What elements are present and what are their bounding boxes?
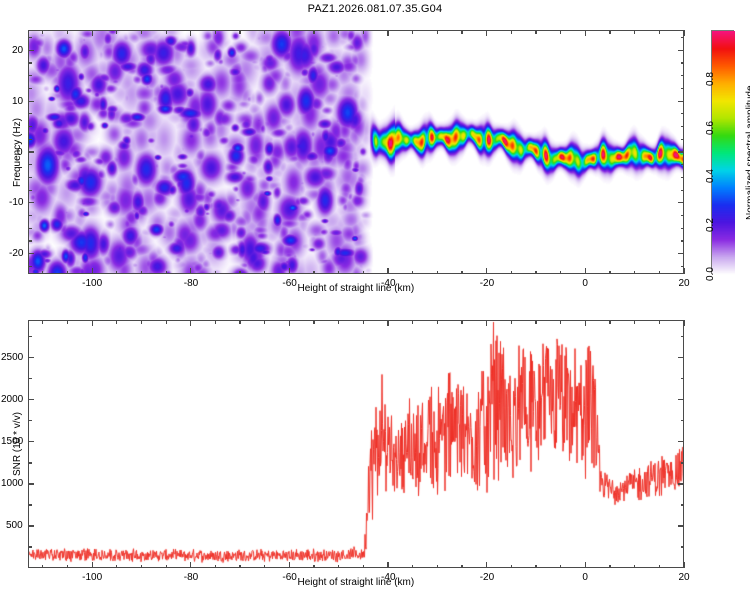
y-tick-minor xyxy=(28,139,32,140)
y-tick-major xyxy=(28,357,34,358)
x-tick-minor-top xyxy=(535,30,536,34)
x-tick-major xyxy=(289,268,290,274)
y-tick-minor xyxy=(28,546,32,547)
x-tick-minor xyxy=(560,271,561,275)
y-tick-minor-right xyxy=(681,190,685,191)
y-tick-minor xyxy=(28,37,32,38)
x-tick-minor-top xyxy=(215,30,216,34)
y-tick-label: 500 xyxy=(6,520,23,531)
y-tick-minor xyxy=(28,504,32,505)
x-tick-minor xyxy=(338,271,339,275)
x-tick-major xyxy=(486,268,487,274)
x-tick-major xyxy=(92,268,93,274)
y-tick-major xyxy=(28,202,34,203)
y-tick-minor xyxy=(28,215,32,216)
x-tick-minor-top xyxy=(511,320,512,324)
y-tick-major xyxy=(28,151,34,152)
x-tick-minor xyxy=(363,271,364,275)
x-tick-label: 20 xyxy=(679,278,690,289)
y-tick-major-right xyxy=(678,357,684,358)
x-tick-minor xyxy=(535,565,536,569)
x-tick-minor xyxy=(511,565,512,569)
y-tick-minor-right xyxy=(681,139,685,140)
y-tick-minor xyxy=(28,88,32,89)
y-tick-major xyxy=(28,525,34,526)
colorbar-tick-label: 0.4 xyxy=(705,169,716,183)
x-tick-minor-top xyxy=(313,30,314,34)
figure-title: PAZ1.2026.081.07.35.G04 xyxy=(0,3,750,15)
x-tick-minor-top xyxy=(42,320,43,324)
y-tick-label: -10 xyxy=(9,197,23,208)
x-tick-label: -100 xyxy=(82,278,102,289)
y-tick-major-right xyxy=(678,253,684,254)
y-tick-label: 20 xyxy=(12,45,23,56)
x-tick-label: 20 xyxy=(679,572,690,583)
y-tick-major-right xyxy=(678,525,684,526)
x-tick-minor-top xyxy=(116,320,117,324)
y-tick-minor-right xyxy=(681,62,685,63)
x-tick-minor xyxy=(511,271,512,275)
x-tick-minor-top xyxy=(67,30,68,34)
x-tick-minor-top xyxy=(412,320,413,324)
x-tick-label: -100 xyxy=(82,572,102,583)
x-tick-major xyxy=(387,268,388,274)
x-tick-minor-top xyxy=(634,30,635,34)
snr-y-axis-label: SNR (10 * v/v) xyxy=(12,412,23,476)
x-tick-label: -60 xyxy=(282,572,296,583)
x-tick-major-top xyxy=(585,320,586,326)
x-tick-minor-top xyxy=(166,320,167,324)
y-tick-minor-right xyxy=(681,164,685,165)
x-tick-minor xyxy=(239,565,240,569)
y-tick-minor-right xyxy=(681,504,685,505)
y-tick-major xyxy=(28,253,34,254)
x-tick-minor xyxy=(239,271,240,275)
x-tick-minor-top xyxy=(461,320,462,324)
y-tick-minor xyxy=(28,62,32,63)
x-tick-minor-top xyxy=(437,30,438,34)
x-tick-minor-top xyxy=(264,320,265,324)
x-tick-minor-top xyxy=(609,320,610,324)
y-tick-major xyxy=(28,50,34,51)
snr-panel xyxy=(28,320,684,568)
x-tick-label: -20 xyxy=(480,278,494,289)
y-tick-minor xyxy=(28,462,32,463)
x-tick-minor-top xyxy=(215,320,216,324)
x-tick-minor xyxy=(437,565,438,569)
x-tick-minor xyxy=(313,565,314,569)
x-tick-minor-top xyxy=(338,320,339,324)
y-tick-major-right xyxy=(678,101,684,102)
x-tick-major-top xyxy=(486,30,487,36)
y-tick-major-right xyxy=(678,483,684,484)
x-tick-label: -20 xyxy=(480,572,494,583)
x-tick-major xyxy=(190,268,191,274)
x-tick-minor xyxy=(141,565,142,569)
y-tick-minor-right xyxy=(681,378,685,379)
x-tick-minor xyxy=(609,271,610,275)
y-tick-minor-right xyxy=(681,88,685,89)
x-tick-major xyxy=(486,562,487,568)
y-tick-minor-right xyxy=(681,228,685,229)
x-tick-major-top xyxy=(190,30,191,36)
x-tick-minor xyxy=(313,271,314,275)
spectrogram-y-axis-label: Frequency (Hz) xyxy=(12,118,23,187)
colorbar-tick-label: 0.8 xyxy=(705,72,716,86)
y-tick-minor xyxy=(28,113,32,114)
x-tick-minor-top xyxy=(264,30,265,34)
y-tick-minor xyxy=(28,240,32,241)
x-tick-major-top xyxy=(92,30,93,36)
x-tick-minor-top xyxy=(461,30,462,34)
colorbar-label: Normalized spectral amplitude xyxy=(745,85,750,220)
y-tick-minor-right xyxy=(681,113,685,114)
x-tick-minor-top xyxy=(116,30,117,34)
x-tick-minor xyxy=(338,565,339,569)
x-tick-major-top xyxy=(387,30,388,36)
y-tick-minor-right xyxy=(681,420,685,421)
x-tick-minor-top xyxy=(609,30,610,34)
x-tick-major-top xyxy=(190,320,191,326)
x-tick-minor-top xyxy=(634,320,635,324)
x-tick-minor-top xyxy=(141,30,142,34)
x-tick-minor xyxy=(412,565,413,569)
y-tick-label: 2000 xyxy=(1,394,23,405)
x-tick-minor xyxy=(634,271,635,275)
x-tick-minor-top xyxy=(535,320,536,324)
x-tick-minor xyxy=(461,565,462,569)
x-tick-minor-top xyxy=(239,30,240,34)
y-tick-label: 2500 xyxy=(1,352,23,363)
x-tick-major-top xyxy=(289,320,290,326)
x-tick-minor xyxy=(67,271,68,275)
colorbar-tick-label: 0.0 xyxy=(705,267,716,281)
y-tick-minor-right xyxy=(681,126,685,127)
y-tick-minor xyxy=(28,75,32,76)
x-tick-minor-top xyxy=(313,320,314,324)
x-tick-minor-top xyxy=(511,30,512,34)
x-tick-minor xyxy=(215,565,216,569)
y-tick-minor xyxy=(28,177,32,178)
colorbar-gradient xyxy=(712,31,735,275)
y-tick-minor-right xyxy=(681,215,685,216)
x-tick-minor xyxy=(437,271,438,275)
y-tick-minor xyxy=(28,228,32,229)
x-tick-minor-top xyxy=(141,320,142,324)
x-tick-minor xyxy=(166,565,167,569)
x-tick-label: -80 xyxy=(184,572,198,583)
y-tick-minor-right xyxy=(681,266,685,267)
y-tick-major-right xyxy=(678,399,684,400)
x-tick-label: -60 xyxy=(282,278,296,289)
x-tick-label: 0 xyxy=(582,278,588,289)
x-tick-minor-top xyxy=(560,30,561,34)
x-tick-minor xyxy=(461,271,462,275)
x-tick-minor xyxy=(264,565,265,569)
x-tick-major xyxy=(92,562,93,568)
x-tick-minor xyxy=(67,565,68,569)
x-tick-minor xyxy=(634,565,635,569)
x-tick-minor-top xyxy=(239,320,240,324)
x-tick-minor xyxy=(560,565,561,569)
x-tick-minor-top xyxy=(659,320,660,324)
y-tick-minor xyxy=(28,190,32,191)
x-tick-minor-top xyxy=(437,320,438,324)
y-tick-minor xyxy=(28,336,32,337)
x-tick-minor xyxy=(215,271,216,275)
x-tick-minor-top xyxy=(363,320,364,324)
y-tick-minor xyxy=(28,266,32,267)
x-tick-minor xyxy=(412,271,413,275)
x-tick-major-top xyxy=(92,320,93,326)
x-tick-major xyxy=(683,562,684,568)
y-tick-label: 1000 xyxy=(1,478,23,489)
y-tick-major xyxy=(28,441,34,442)
y-tick-major-right xyxy=(678,441,684,442)
x-tick-minor xyxy=(116,565,117,569)
x-tick-minor xyxy=(535,271,536,275)
x-tick-minor xyxy=(42,271,43,275)
x-tick-minor-top xyxy=(412,30,413,34)
y-tick-major xyxy=(28,399,34,400)
x-tick-minor xyxy=(264,271,265,275)
y-tick-label: 10 xyxy=(12,96,23,107)
y-tick-minor xyxy=(28,164,32,165)
y-tick-major xyxy=(28,483,34,484)
y-tick-major-right xyxy=(678,202,684,203)
spectrogram-x-axis-label: Height of straight line (km) xyxy=(298,283,415,294)
y-tick-minor xyxy=(28,420,32,421)
x-tick-minor-top xyxy=(42,30,43,34)
y-tick-major-right xyxy=(678,151,684,152)
y-tick-major xyxy=(28,101,34,102)
y-tick-label: -20 xyxy=(9,248,23,259)
x-tick-minor-top xyxy=(363,30,364,34)
y-tick-minor-right xyxy=(681,336,685,337)
x-tick-minor-top xyxy=(67,320,68,324)
y-tick-minor-right xyxy=(681,462,685,463)
x-tick-minor xyxy=(609,565,610,569)
x-tick-major xyxy=(585,562,586,568)
x-tick-minor-top xyxy=(166,30,167,34)
x-tick-minor-top xyxy=(560,320,561,324)
x-tick-minor xyxy=(141,271,142,275)
x-tick-major xyxy=(190,562,191,568)
x-tick-label: 0 xyxy=(582,572,588,583)
y-tick-minor xyxy=(28,126,32,127)
x-tick-major-top xyxy=(387,320,388,326)
spectrogram-panel xyxy=(28,30,684,274)
colorbar xyxy=(711,30,734,274)
y-tick-minor-right xyxy=(681,240,685,241)
figure-root: PAZ1.2026.081.07.35.G04 -100-80-60-40-20… xyxy=(0,0,750,600)
x-tick-major-top xyxy=(683,320,684,326)
x-tick-minor xyxy=(659,271,660,275)
x-tick-minor xyxy=(659,565,660,569)
x-tick-minor-top xyxy=(659,30,660,34)
x-tick-major xyxy=(387,562,388,568)
snr-trace xyxy=(29,321,684,568)
x-tick-major-top xyxy=(486,320,487,326)
x-tick-minor xyxy=(166,271,167,275)
y-tick-minor-right xyxy=(681,546,685,547)
x-tick-minor xyxy=(42,565,43,569)
snr-x-axis-label: Height of straight line (km) xyxy=(298,577,415,588)
x-tick-minor-top xyxy=(338,30,339,34)
y-tick-minor-right xyxy=(681,177,685,178)
y-tick-minor-right xyxy=(681,37,685,38)
spectrogram-image xyxy=(29,31,684,274)
y-tick-minor-right xyxy=(681,75,685,76)
x-tick-major-top xyxy=(289,30,290,36)
x-tick-major xyxy=(585,268,586,274)
y-tick-major-right xyxy=(678,50,684,51)
x-tick-minor xyxy=(363,565,364,569)
colorbar-tick-label: 0.6 xyxy=(705,121,716,135)
x-tick-major-top xyxy=(683,30,684,36)
colorbar-tick-label: 0.2 xyxy=(705,218,716,232)
x-tick-minor xyxy=(116,271,117,275)
y-tick-minor xyxy=(28,378,32,379)
x-tick-major-top xyxy=(585,30,586,36)
x-tick-label: -80 xyxy=(184,278,198,289)
x-tick-major xyxy=(683,268,684,274)
x-tick-major xyxy=(289,562,290,568)
